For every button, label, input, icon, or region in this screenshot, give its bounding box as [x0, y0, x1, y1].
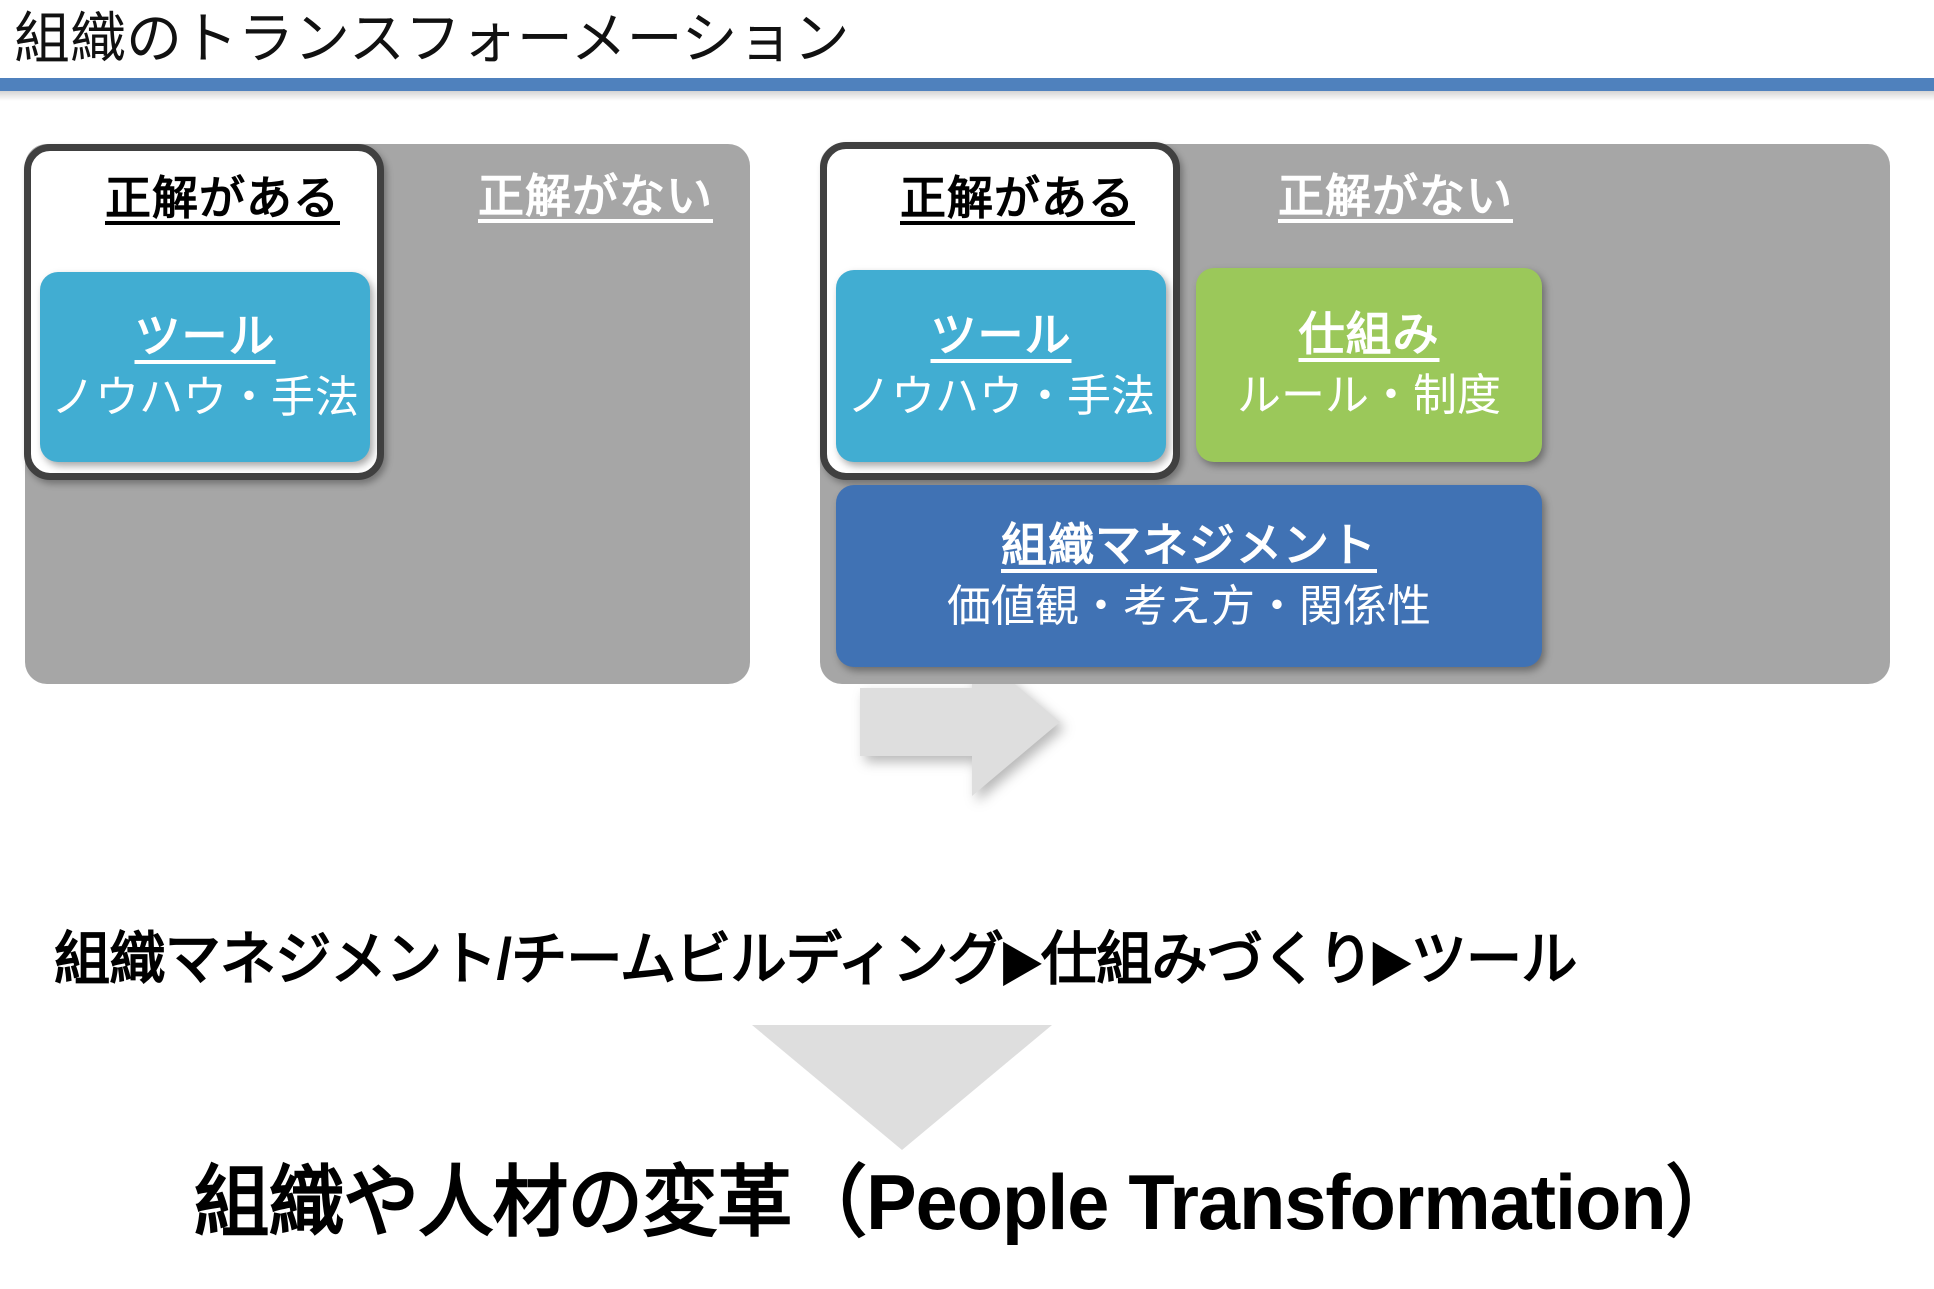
- after-system-chip: 仕組み ルール・制度: [1196, 268, 1542, 462]
- title-bar: 組織のトランスフォーメーション: [0, 0, 1934, 100]
- page-title: 組織のトランスフォーメーション: [14, 4, 850, 74]
- after-tool-chip-subtitle: ノウハウ・手法: [847, 368, 1155, 426]
- conclusion-line: 組織や人材の変革（People Transformation）: [0, 1140, 1934, 1252]
- down-arrow-icon: [752, 1025, 1052, 1150]
- after-tool-chip-title: ツール: [931, 306, 1072, 364]
- after-management-chip: 組織マネジメント 価値観・考え方・関係性: [836, 485, 1542, 667]
- after-tool-chip: ツール ノウハウ・手法: [836, 270, 1166, 462]
- after-system-chip-subtitle: ルール・制度: [1237, 367, 1501, 425]
- sequence-line: 組織マネジメント/チームビルディング▶仕組みづくり▶ツール: [0, 912, 1934, 996]
- after-has-answer-header: 正解がある: [900, 162, 1135, 228]
- conclusion-text: 組織や人材の変革（People Transformation）: [194, 1140, 1740, 1252]
- before-has-answer-header: 正解がある: [105, 162, 340, 228]
- before-tool-chip: ツール ノウハウ・手法: [40, 272, 370, 462]
- title-accent-rule: [0, 78, 1934, 91]
- transformation-diagram: 正解がない 正解がある ツール ノウハウ・手法 正解がない 正解がある ツール …: [0, 100, 1934, 760]
- before-no-answer-header: 正解がない: [478, 160, 713, 226]
- after-no-answer-header: 正解がない: [1278, 160, 1513, 226]
- before-tool-chip-subtitle: ノウハウ・手法: [51, 369, 359, 427]
- after-system-chip-title: 仕組み: [1299, 305, 1440, 363]
- sequence-line-text: 組織マネジメント/チームビルディング▶仕組みづくり▶ツール: [54, 912, 1576, 996]
- before-tool-chip-title: ツール: [135, 307, 276, 365]
- after-management-chip-subtitle: 価値観・考え方・関係性: [947, 578, 1431, 636]
- after-management-chip-title: 組織マネジメント: [1001, 516, 1377, 574]
